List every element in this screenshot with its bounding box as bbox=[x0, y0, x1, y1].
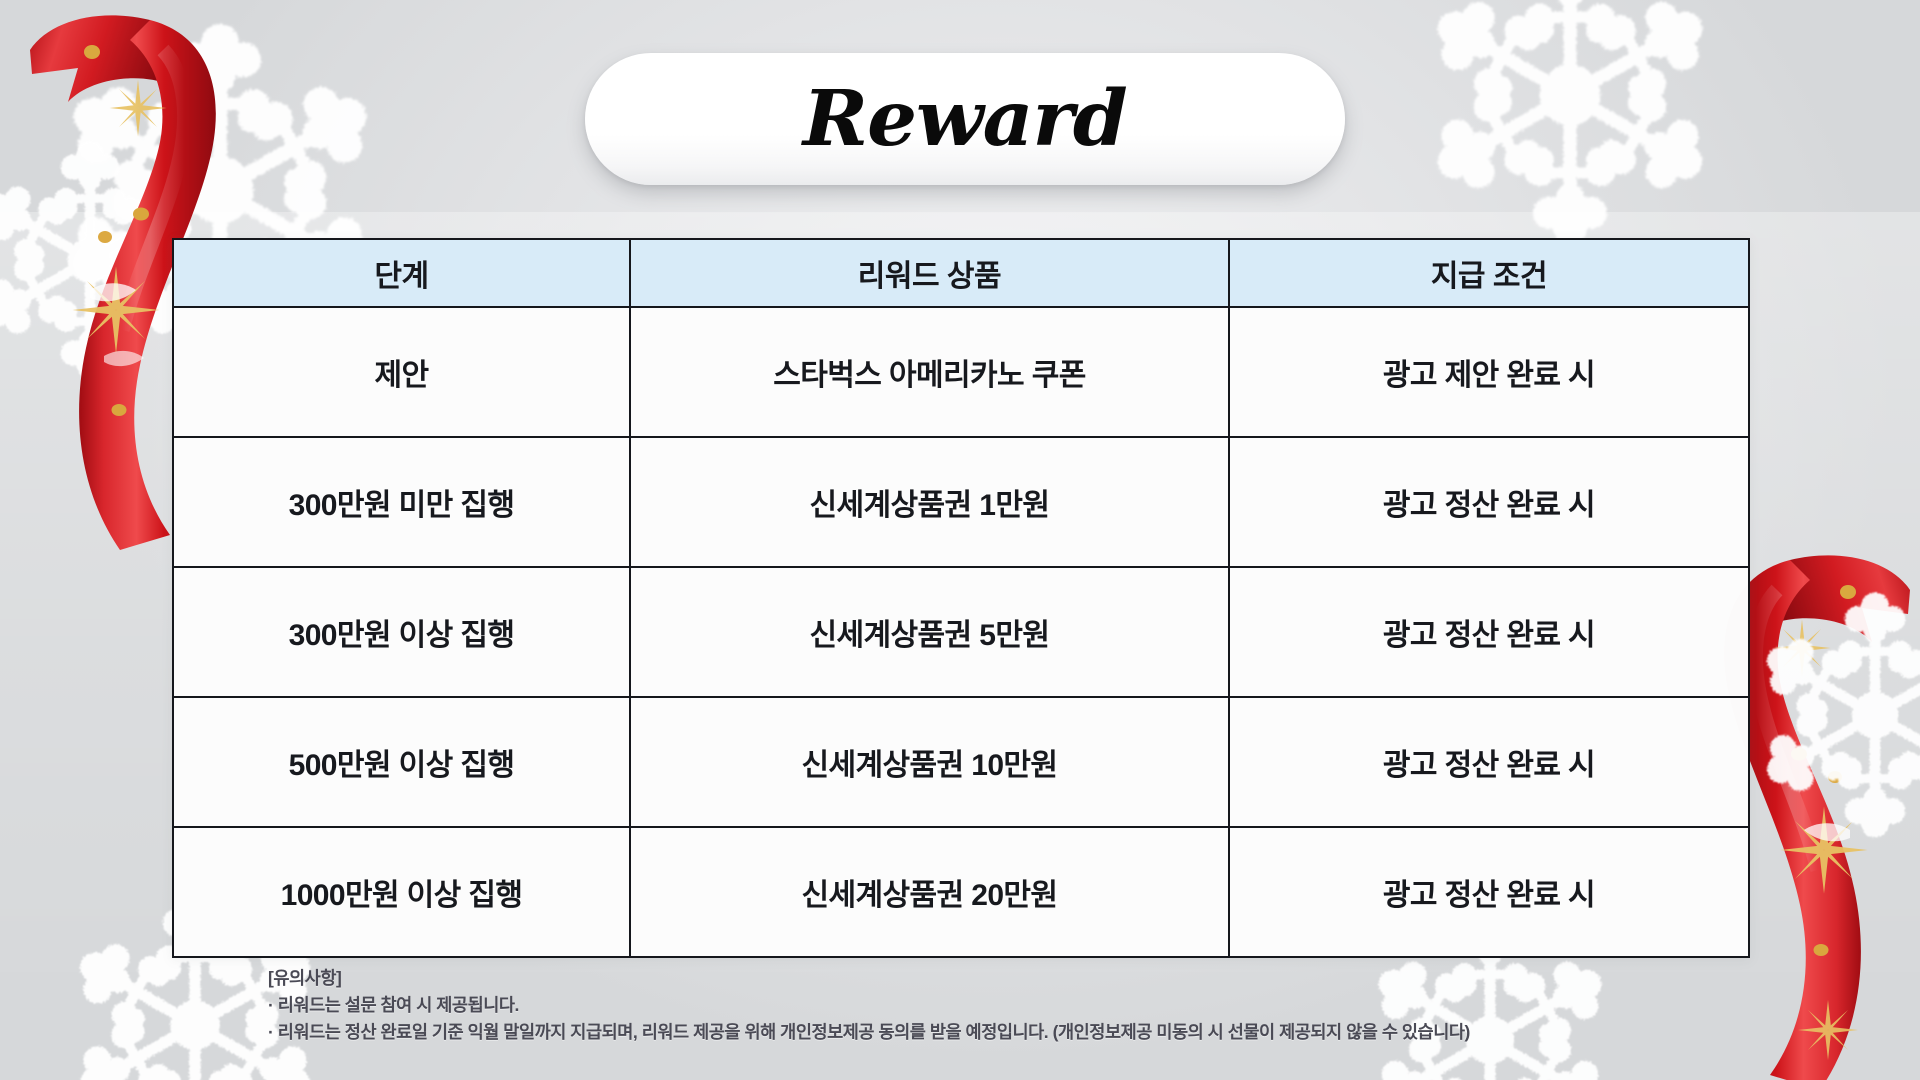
reward-table-container: 단계 리워드 상품 지급 조건 제안 스타벅스 아메리카노 쿠폰 광고 제안 완… bbox=[172, 238, 1750, 958]
cell-stage: 300만원 미만 집행 bbox=[173, 437, 630, 567]
footnote-title: [유의사항] bbox=[268, 965, 1470, 992]
table-header-row: 단계 리워드 상품 지급 조건 bbox=[173, 239, 1749, 307]
table-row: 300만원 이상 집행 신세계상품권 5만원 광고 정산 완료 시 bbox=[173, 567, 1749, 697]
page-title-pill: Reward bbox=[585, 53, 1345, 185]
cell-reward: 신세계상품권 20만원 bbox=[630, 827, 1229, 957]
cell-stage: 제안 bbox=[173, 307, 630, 437]
table-body: 제안 스타벅스 아메리카노 쿠폰 광고 제안 완료 시 300만원 미만 집행 … bbox=[173, 307, 1749, 957]
snowflake-icon bbox=[1720, 560, 1920, 870]
footnote-line-1: · 리워드는 설문 참여 시 제공됩니다. bbox=[268, 992, 1470, 1019]
page-title: Reward bbox=[803, 74, 1127, 164]
poster-canvas: Reward 단계 리워드 상품 지급 조건 제안 스타벅스 아메리카노 쿠폰 … bbox=[0, 0, 1920, 1080]
footnote: [유의사항] · 리워드는 설문 참여 시 제공됩니다. · 리워드는 정산 완… bbox=[268, 965, 1470, 1046]
cell-reward: 스타벅스 아메리카노 쿠폰 bbox=[630, 307, 1229, 437]
cell-condition: 광고 정산 완료 시 bbox=[1229, 437, 1749, 567]
cell-reward: 신세계상품권 5만원 bbox=[630, 567, 1229, 697]
cell-condition: 광고 정산 완료 시 bbox=[1229, 827, 1749, 957]
table-row: 300만원 미만 집행 신세계상품권 1만원 광고 정산 완료 시 bbox=[173, 437, 1749, 567]
reward-table: 단계 리워드 상품 지급 조건 제안 스타벅스 아메리카노 쿠폰 광고 제안 완… bbox=[172, 238, 1750, 958]
cell-condition: 광고 정산 완료 시 bbox=[1229, 697, 1749, 827]
cell-reward: 신세계상품권 10만원 bbox=[630, 697, 1229, 827]
cell-stage: 500만원 이상 집행 bbox=[173, 697, 630, 827]
table-header: 단계 리워드 상품 지급 조건 bbox=[173, 239, 1749, 307]
table-row: 1000만원 이상 집행 신세계상품권 20만원 광고 정산 완료 시 bbox=[173, 827, 1749, 957]
column-header-reward: 리워드 상품 bbox=[630, 239, 1229, 307]
cell-condition: 광고 제안 완료 시 bbox=[1229, 307, 1749, 437]
column-header-condition: 지급 조건 bbox=[1229, 239, 1749, 307]
cell-condition: 광고 정산 완료 시 bbox=[1229, 567, 1749, 697]
column-header-stage: 단계 bbox=[173, 239, 630, 307]
cell-stage: 1000만원 이상 집행 bbox=[173, 827, 630, 957]
cell-reward: 신세계상품권 1만원 bbox=[630, 437, 1229, 567]
footnote-line-2: · 리워드는 정산 완료일 기준 익월 말일까지 지급되며, 리워드 제공을 위… bbox=[268, 1019, 1470, 1046]
cell-stage: 300만원 이상 집행 bbox=[173, 567, 630, 697]
table-row: 500만원 이상 집행 신세계상품권 10만원 광고 정산 완료 시 bbox=[173, 697, 1749, 827]
table-row: 제안 스타벅스 아메리카노 쿠폰 광고 제안 완료 시 bbox=[173, 307, 1749, 437]
